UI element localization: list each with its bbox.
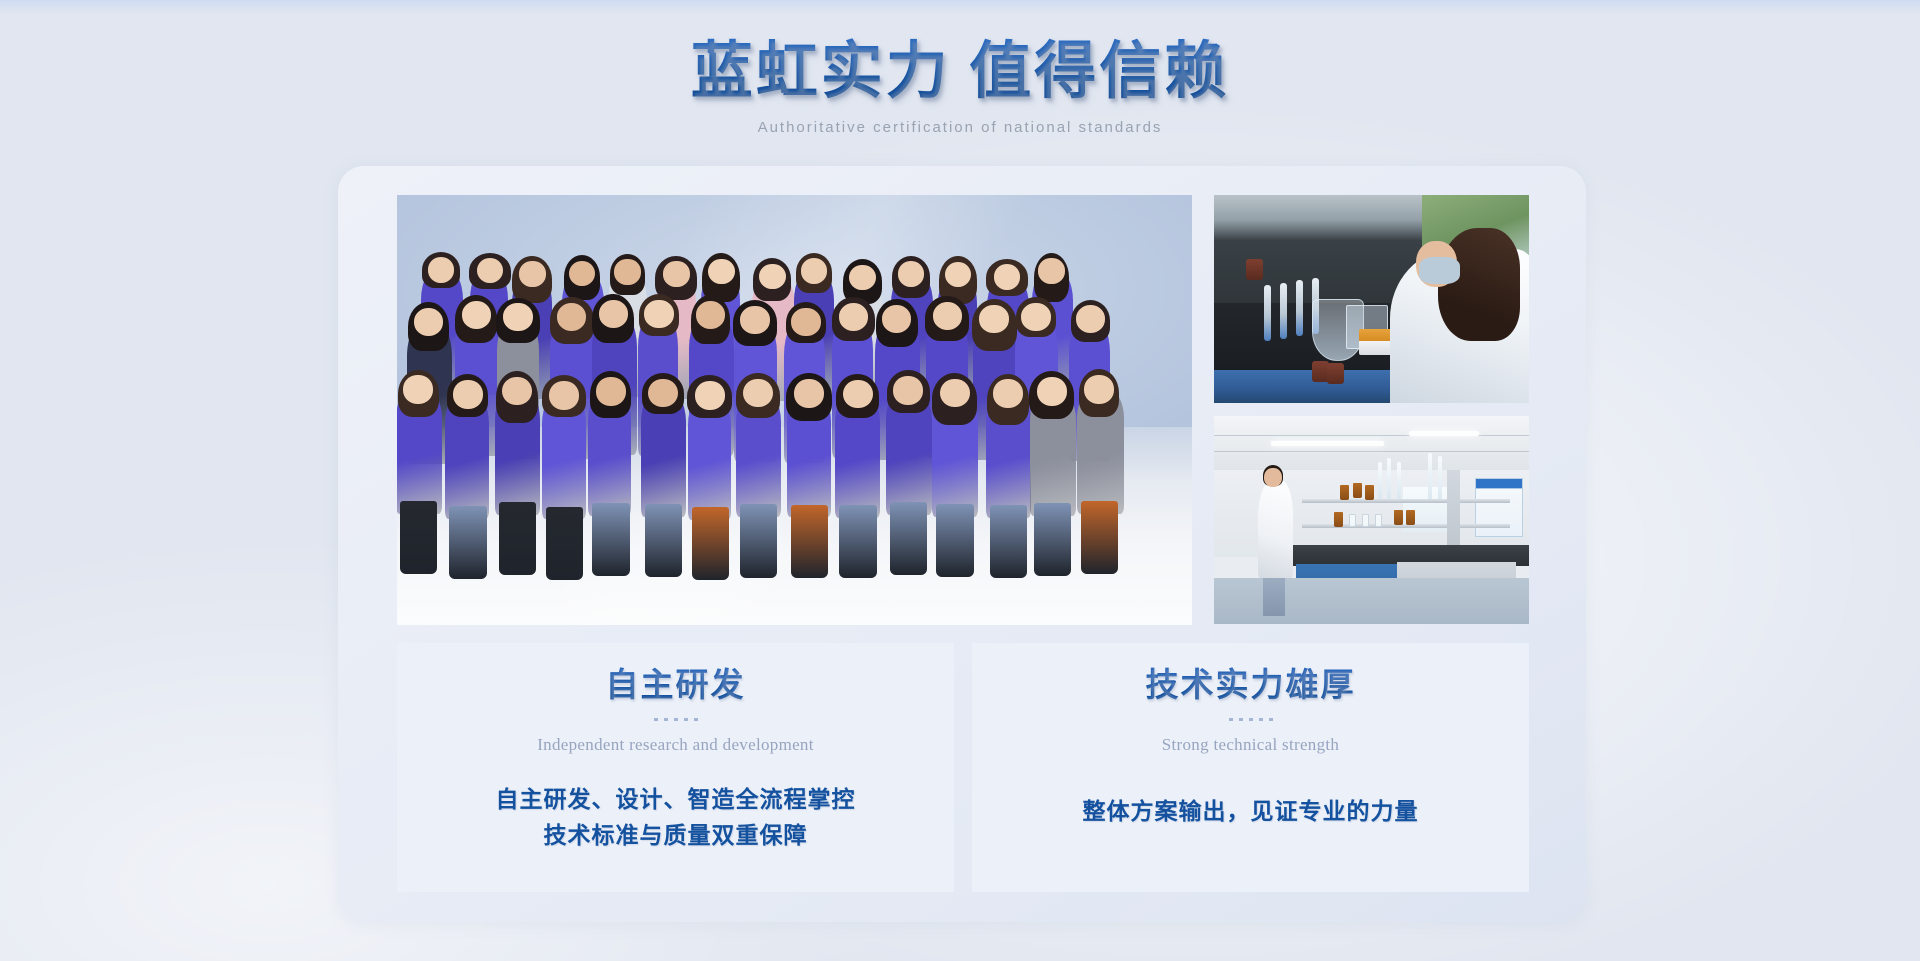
team-member-face xyxy=(596,377,626,406)
team-member-face xyxy=(428,257,455,283)
content-panel: 自主研发 Independent research and developmen… xyxy=(338,166,1586,922)
card-title: 自主研发 xyxy=(397,665,954,707)
card-title: 技术实力雄厚 xyxy=(972,665,1529,707)
clear-bottle-icon xyxy=(1362,514,1369,527)
team-member-face xyxy=(882,305,911,333)
glass-tube-icon xyxy=(1378,462,1382,499)
team-member-face xyxy=(1021,303,1050,331)
team-member-legs xyxy=(499,502,536,575)
team-member-face xyxy=(940,379,970,408)
card-english-subtitle: Independent research and development xyxy=(397,734,954,756)
team-member-legs xyxy=(791,505,828,578)
team-member-face xyxy=(794,379,824,408)
team-member-face xyxy=(994,264,1021,290)
amber-bottle-icon xyxy=(1394,510,1403,525)
team-member-face xyxy=(599,300,628,328)
team-member-face xyxy=(453,380,483,409)
team-member-face xyxy=(1037,377,1067,406)
team-member-face xyxy=(979,305,1008,333)
glass-tube-icon xyxy=(1438,456,1442,500)
team-member-face xyxy=(614,259,641,285)
lab-technician-face xyxy=(1264,468,1281,487)
feature-cards: 自主研发 Independent research and developmen… xyxy=(397,643,1529,892)
ceiling-grid-line xyxy=(1214,435,1529,436)
page-header: 蓝虹实力 值得信赖 Authoritative certification of… xyxy=(0,36,1920,138)
feature-card-rnd[interactable]: 自主研发 Independent research and developmen… xyxy=(397,643,954,892)
team-member-face xyxy=(663,261,690,287)
lab-scene-two xyxy=(1214,416,1529,624)
team-member-face xyxy=(993,379,1023,408)
pipette-icon xyxy=(1296,280,1303,336)
page-title: 蓝虹实力 值得信赖 xyxy=(0,36,1920,108)
reagent-bottle-icon xyxy=(1312,361,1329,382)
team-member-legs xyxy=(839,505,876,578)
team-member-face xyxy=(403,375,433,404)
team-member-face xyxy=(759,264,786,290)
team-member-face xyxy=(1038,258,1065,284)
reagent-bottle-icon xyxy=(1327,363,1344,384)
team-member-legs xyxy=(449,506,486,579)
ceiling-lamp xyxy=(1409,431,1478,436)
amber-bottle-icon xyxy=(1406,510,1415,525)
team-member-face xyxy=(502,377,532,406)
team-member-face xyxy=(740,306,769,334)
team-member-face xyxy=(843,380,873,409)
pipette-icon xyxy=(1280,283,1287,339)
lab-technician-coat xyxy=(1258,480,1293,578)
team-member-legs xyxy=(740,504,777,577)
glass-tube-icon xyxy=(1387,458,1391,500)
dashed-divider-icon xyxy=(654,718,698,721)
lab-shelf xyxy=(1302,499,1510,503)
team-member-legs xyxy=(1081,501,1118,574)
team-member-face xyxy=(933,302,962,330)
team-member-face xyxy=(898,261,925,287)
team-member-face xyxy=(462,301,491,329)
card-description: 整体方案输出，见证专业的力量 xyxy=(972,794,1529,830)
team-member-face xyxy=(1084,375,1114,404)
pipette-icon xyxy=(1264,285,1271,341)
amber-bottle-icon xyxy=(1334,512,1343,527)
team-member-legs xyxy=(546,507,583,580)
glass-tube-icon xyxy=(1397,462,1401,499)
team-member-face xyxy=(801,258,828,284)
team-member-legs xyxy=(936,504,973,577)
card-english-subtitle: Strong technical strength xyxy=(972,734,1529,756)
team-member-legs xyxy=(645,504,682,577)
team-member-face xyxy=(791,308,820,336)
team-member-legs xyxy=(1034,503,1071,576)
team-member-face xyxy=(519,261,546,287)
side-photo-column xyxy=(1214,195,1529,625)
team-member-legs xyxy=(692,507,729,580)
team-member-face xyxy=(549,381,579,410)
lab-room-photo[interactable] xyxy=(1214,416,1529,624)
team-member-face xyxy=(1076,305,1105,333)
team-group-photo[interactable] xyxy=(397,195,1192,625)
lab-scene-one xyxy=(1214,195,1529,403)
amber-bottle-icon xyxy=(1365,485,1374,500)
page-subtitle: Authoritative certification of national … xyxy=(0,118,1920,138)
feature-card-technical[interactable]: 技术实力雄厚 Strong technical strength 整体方案输出，… xyxy=(972,643,1529,892)
face-mask-icon xyxy=(1419,257,1460,284)
lab-floor xyxy=(1214,578,1529,624)
card-description-line: 自主研发、设计、智造全流程掌控 xyxy=(397,782,954,818)
team-member-legs xyxy=(990,505,1027,578)
photo-gallery xyxy=(397,195,1529,625)
clear-bottle-icon xyxy=(1349,514,1356,527)
team-member-face xyxy=(893,376,923,405)
card-description-line: 技术标准与质量双重保障 xyxy=(397,818,954,854)
lab-technician-legs xyxy=(1263,574,1285,616)
lab-pipetting-photo[interactable] xyxy=(1214,195,1529,403)
dashed-divider-icon xyxy=(1229,718,1273,721)
ceiling-lamp xyxy=(1271,441,1384,446)
team-member-face xyxy=(648,379,678,408)
team-member-face xyxy=(503,303,532,331)
team-member-face xyxy=(839,303,868,331)
amber-bottle-icon xyxy=(1340,485,1349,500)
clear-bottle-icon xyxy=(1375,514,1382,527)
glass-tube-icon xyxy=(1428,453,1432,499)
team-member-face xyxy=(644,300,673,328)
team-member-face xyxy=(696,301,725,329)
ceiling-grid-line xyxy=(1214,451,1529,452)
card-description: 自主研发、设计、智造全流程掌控 技术标准与质量双重保障 xyxy=(397,782,954,854)
team-member-legs xyxy=(890,502,927,575)
card-description-line: 整体方案输出，见证专业的力量 xyxy=(972,794,1529,830)
team-member-face xyxy=(708,259,735,285)
reagent-bottle-icon xyxy=(1246,259,1263,280)
team-member-face xyxy=(695,381,725,410)
team-member-legs xyxy=(400,501,437,574)
team-member-legs xyxy=(592,503,629,576)
team-member-face xyxy=(849,265,876,291)
amber-bottle-icon xyxy=(1353,483,1362,498)
